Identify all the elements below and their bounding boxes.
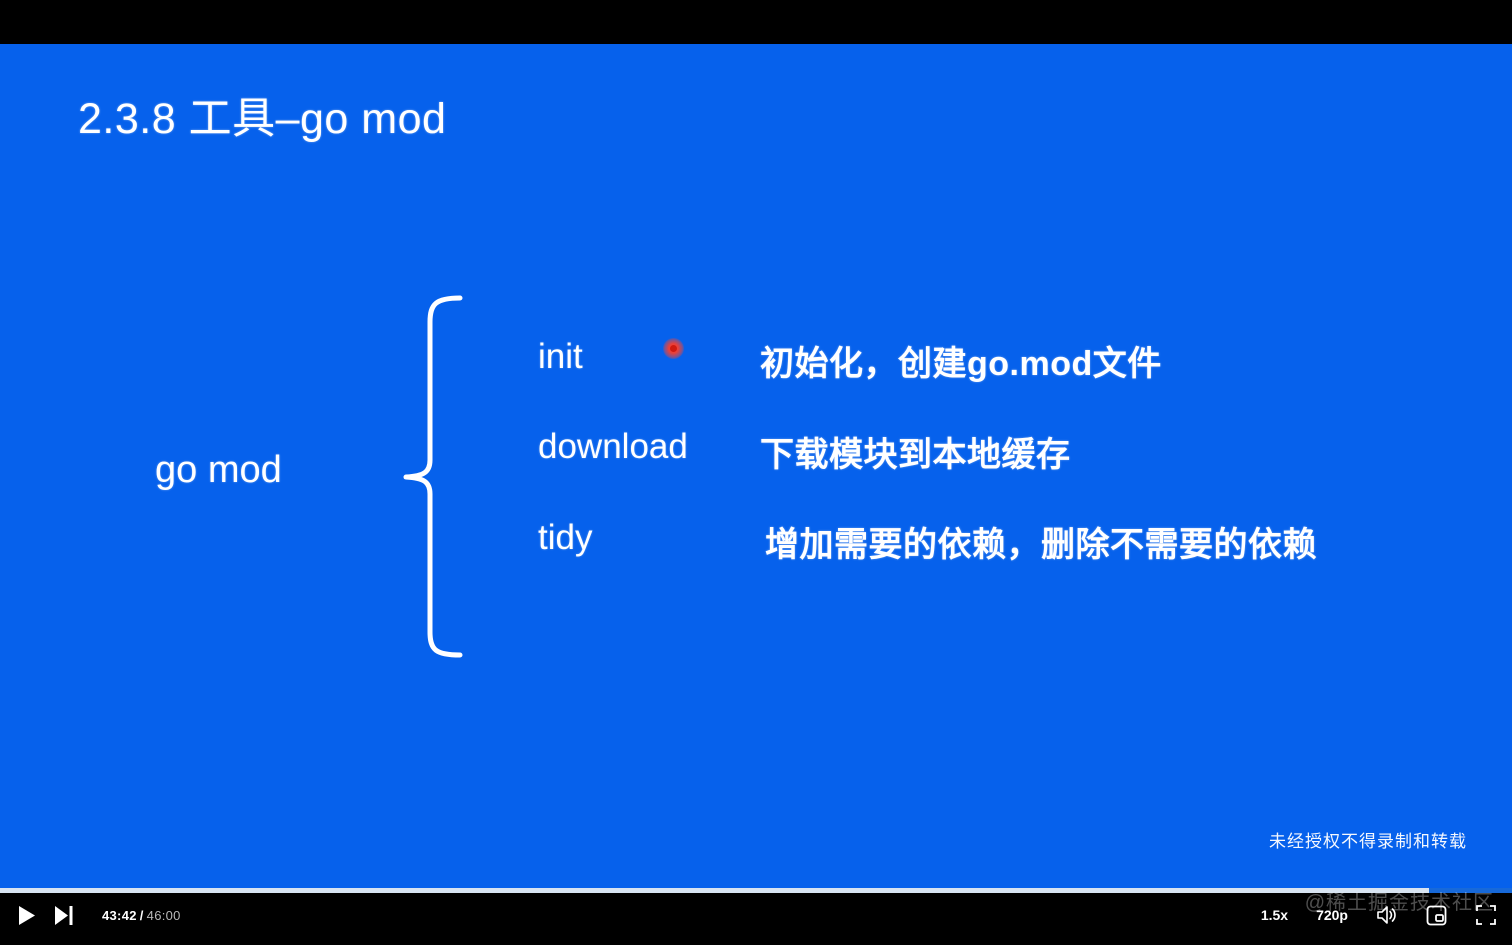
diagram-root-label: go mod xyxy=(155,449,282,492)
player-right-controls: 1.5x 720p xyxy=(1261,895,1497,935)
go-mod-diagram: go mod init download tidy 初始化，创建go.mod文件… xyxy=(0,44,1512,888)
curly-brace-icon xyxy=(398,292,478,660)
quality-button[interactable]: 720p xyxy=(1316,907,1348,923)
letterbox-top-bar xyxy=(0,0,1512,44)
description-init: 初始化，创建go.mod文件 xyxy=(760,336,1162,385)
laser-pointer-dot-icon xyxy=(663,338,684,359)
play-icon[interactable] xyxy=(17,905,36,926)
slide-canvas: 2.3.8 工具–go mod go mod init download tid… xyxy=(0,44,1512,888)
next-icon[interactable] xyxy=(54,905,74,926)
time-total: 46:00 xyxy=(147,908,181,923)
time-display: 43:42/46:00 xyxy=(102,908,181,923)
video-player: 2.3.8 工具–go mod go mod init download tid… xyxy=(0,0,1512,945)
volume-icon[interactable] xyxy=(1376,905,1398,925)
player-left-controls: 43:42/46:00 xyxy=(17,895,181,935)
command-init: init xyxy=(538,337,583,377)
command-download: download xyxy=(538,427,688,467)
fullscreen-icon[interactable] xyxy=(1475,904,1497,926)
slide-copyright-watermark: 未经授权不得录制和转载 xyxy=(1269,827,1467,852)
progress-bar[interactable] xyxy=(0,888,1512,893)
description-download: 下载模块到本地缓存 xyxy=(760,427,1071,476)
time-current: 43:42 xyxy=(102,908,137,923)
command-tidy: tidy xyxy=(538,518,592,558)
description-tidy: 增加需要的依赖，删除不需要的依赖 xyxy=(765,517,1317,566)
progress-bar-fill xyxy=(0,888,1429,893)
playback-speed-button[interactable]: 1.5x xyxy=(1261,907,1288,923)
player-control-bar: @稀土掘金技术社区 43:42/46:00 1.5x 720p xyxy=(0,888,1512,945)
time-separator: / xyxy=(140,908,144,923)
picture-in-picture-icon[interactable] xyxy=(1426,905,1447,926)
